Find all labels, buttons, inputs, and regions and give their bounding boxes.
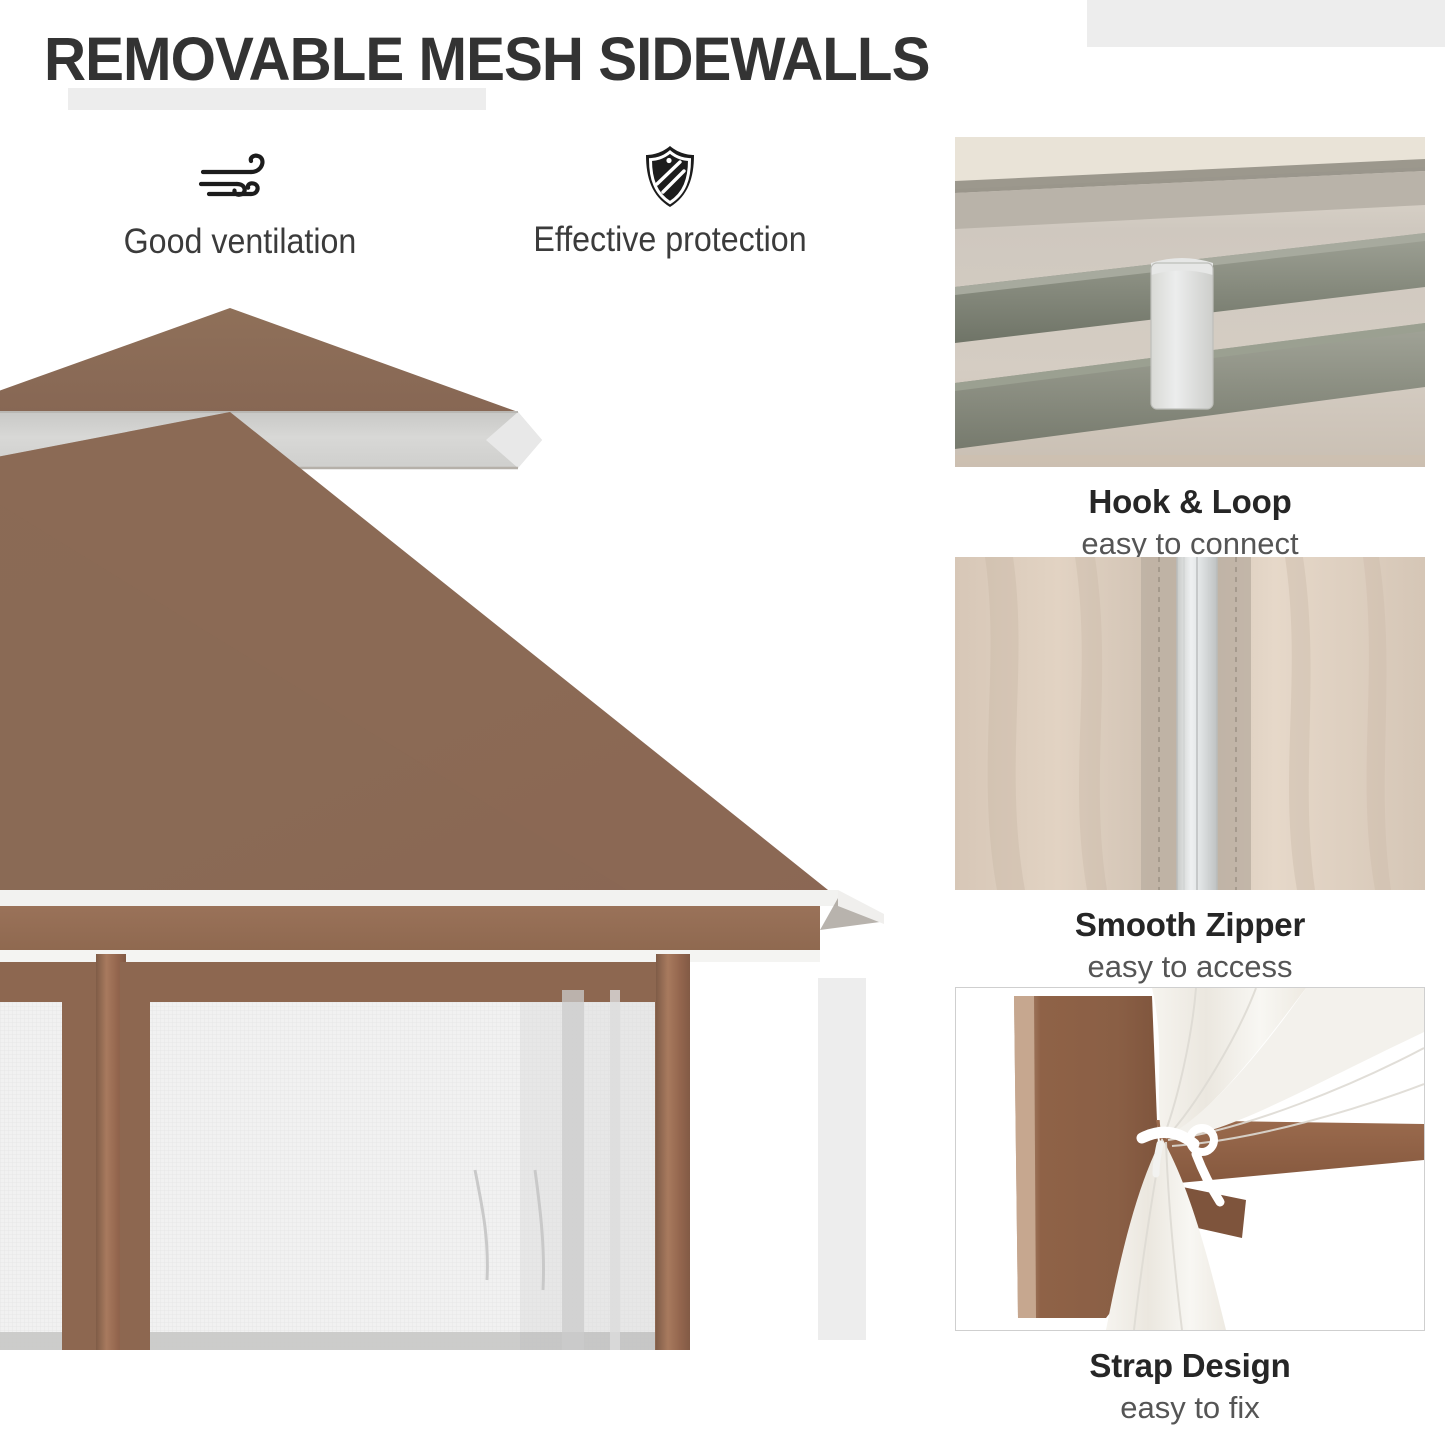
card-caption: Strap Design easy to fix <box>955 1347 1425 1426</box>
feature-effective-protection: Effective protection <box>480 146 860 260</box>
page-title: REMOVABLE MESH SIDEWALLS <box>44 27 980 91</box>
wind-icon <box>60 148 420 210</box>
feature-label: Good ventilation <box>74 222 405 262</box>
decorative-block-top-right <box>1087 0 1445 47</box>
card-subtitle: easy to access <box>955 949 1425 985</box>
strap-tieback-photo <box>955 987 1425 1331</box>
shield-icon <box>480 146 860 208</box>
gazebo-illustration <box>0 290 950 1350</box>
feature-card-hook-and-loop: Hook & Loop easy to connect <box>955 137 1425 557</box>
zipper-closeup-photo <box>955 557 1425 890</box>
card-title: Strap Design <box>955 1347 1425 1385</box>
card-title: Hook & Loop <box>955 483 1425 521</box>
feature-label: Effective protection <box>495 220 845 260</box>
card-caption: Hook & Loop easy to connect <box>955 483 1425 562</box>
card-subtitle: easy to fix <box>955 1390 1425 1426</box>
feature-good-ventilation: Good ventilation <box>60 148 420 262</box>
infographic-canvas: REMOVABLE MESH SIDEWALLS Good ventilatio… <box>0 0 1445 1445</box>
hook-and-loop-strap-photo <box>955 137 1425 467</box>
card-title: Smooth Zipper <box>955 906 1425 944</box>
feature-card-smooth-zipper: Smooth Zipper easy to access <box>955 557 1425 982</box>
card-caption: Smooth Zipper easy to access <box>955 906 1425 985</box>
feature-card-strap-design: Strap Design easy to fix <box>955 987 1425 1427</box>
